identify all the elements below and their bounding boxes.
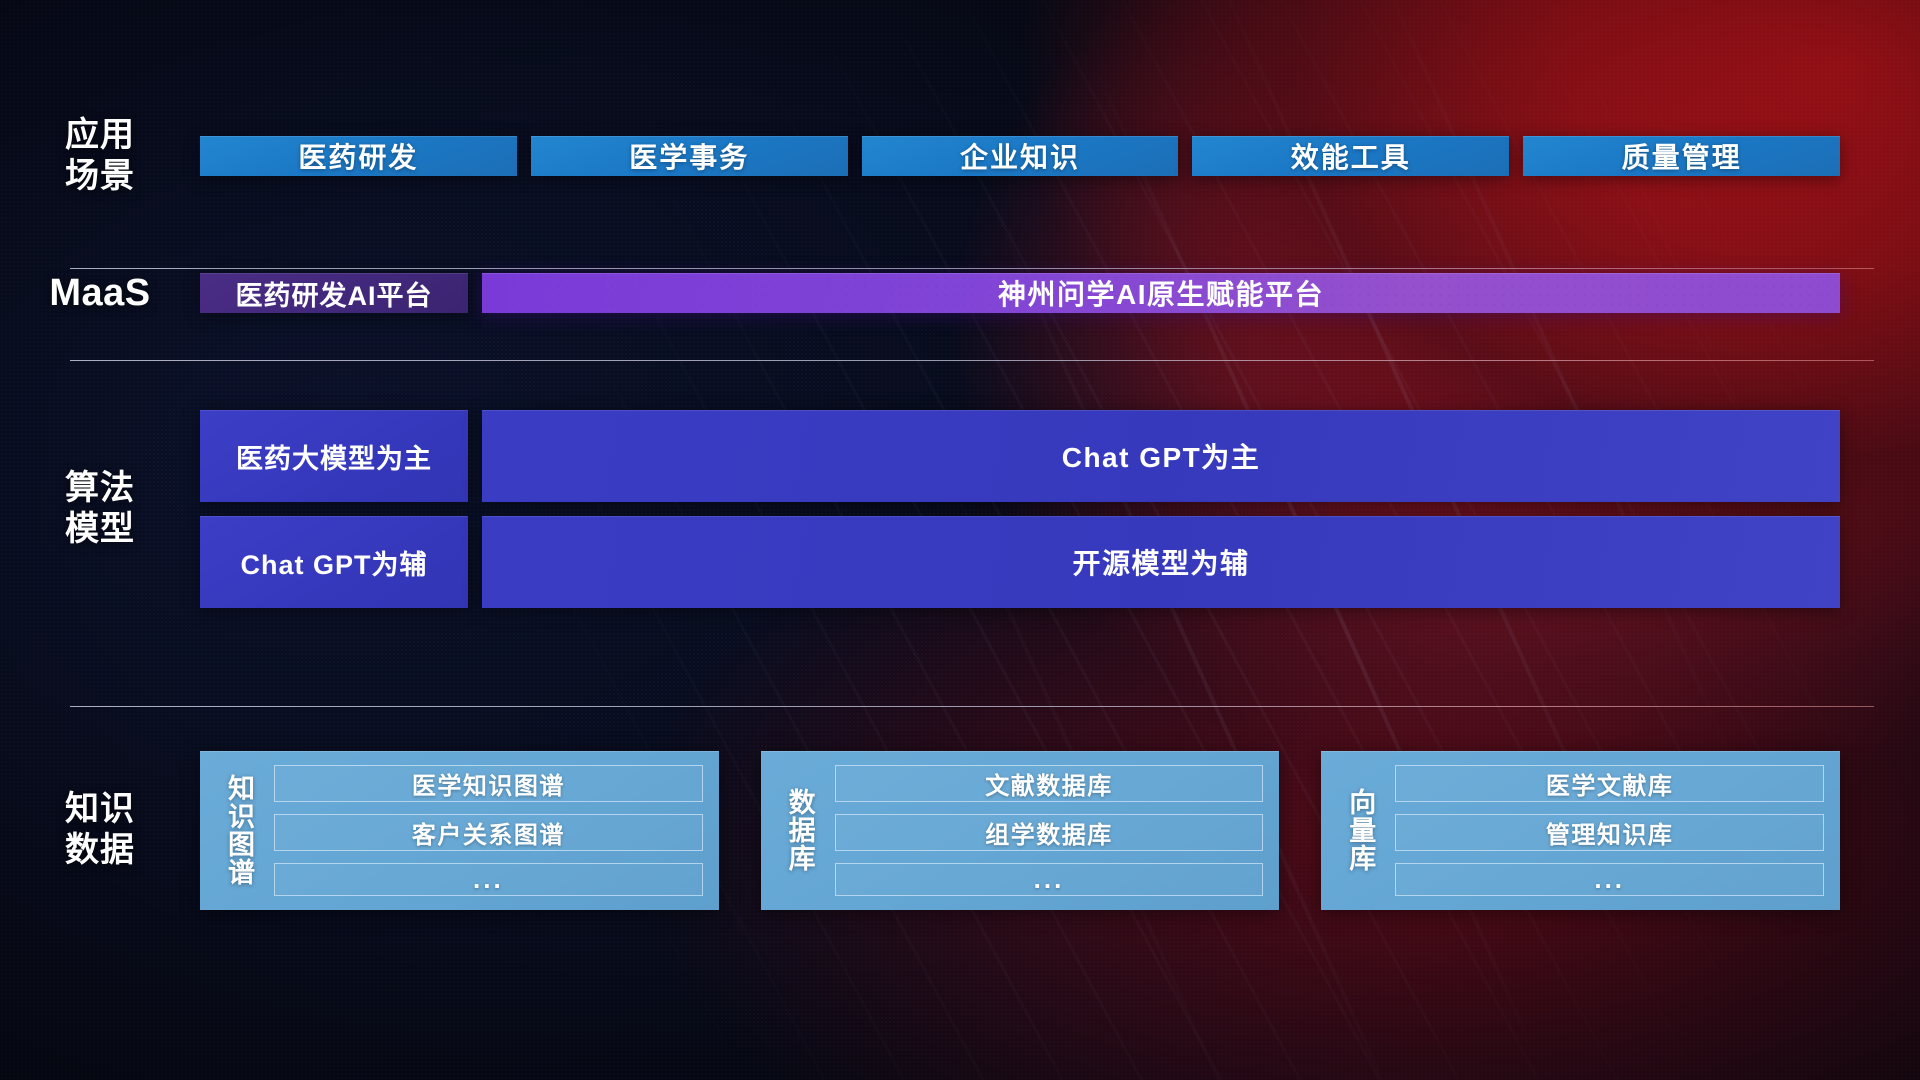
divider-maas-algorithm <box>70 360 1874 361</box>
knowledge-item-medical-literature-store[interactable]: 医学文献库 <box>1395 765 1824 802</box>
knowledge-item-label: 医学文献库 <box>1546 766 1674 801</box>
knowledge-item-medical-knowledge-graph[interactable]: 医学知识图谱 <box>274 765 703 802</box>
row-knowledge-data: 知识 数据 知识图谱 医学知识图谱 客户关系图谱 ... <box>0 700 1920 960</box>
knowledge-panel-database[interactable]: 数据库 文献数据库 组学数据库 ... <box>761 751 1280 910</box>
algo-box-chatgpt-secondary[interactable]: Chat GPT为辅 <box>200 516 468 608</box>
algo-box-label: 医药大模型为主 <box>236 437 432 476</box>
app-box-efficiency-tools[interactable]: 效能工具 <box>1192 136 1509 176</box>
knowledge-item-label: 组学数据库 <box>985 815 1113 850</box>
app-box-label: 质量管理 <box>1622 136 1742 176</box>
maas-box-label: 医药研发AI平台 <box>236 274 433 313</box>
app-box-label: 效能工具 <box>1291 136 1411 176</box>
knowledge-item-customer-relation-graph[interactable]: 客户关系图谱 <box>274 814 703 851</box>
algo-box-label: Chat GPT为主 <box>1062 436 1261 476</box>
app-box-enterprise-knowledge[interactable]: 企业知识 <box>862 136 1179 176</box>
maas-box-shenzhou-wenxue-platform[interactable]: 神州问学AI原生赋能平台 <box>482 273 1840 313</box>
algo-box-label: 开源模型为辅 <box>1072 542 1249 582</box>
row-application-scenarios: 应用 场景 医药研发 医学事务 企业知识 效能工具 质量管理 <box>0 96 1920 216</box>
knowledge-item-list: 文献数据库 组学数据库 ... <box>827 765 1264 896</box>
row-label-algorithm-model: 算法 模型 <box>0 468 200 551</box>
knowledge-panel-knowledge-graph[interactable]: 知识图谱 医学知识图谱 客户关系图谱 ... <box>200 751 719 910</box>
knowledge-panel-title: 向量库 <box>1331 765 1387 896</box>
row-label-knowledge-data: 知识 数据 <box>0 789 200 872</box>
maas-box-label: 神州问学AI原生赋能平台 <box>998 273 1324 313</box>
algorithm-line-secondary: Chat GPT为辅 开源模型为辅 <box>200 516 1840 608</box>
app-box-label: 医学事务 <box>629 136 749 176</box>
knowledge-panel-vector-store[interactable]: 向量库 医学文献库 管理知识库 ... <box>1321 751 1840 910</box>
knowledge-item-label: 文献数据库 <box>985 766 1113 801</box>
app-box-label: 医药研发 <box>298 136 418 176</box>
knowledge-item-label: ... <box>1594 864 1625 895</box>
maas-box-pharma-ai-platform[interactable]: 医药研发AI平台 <box>200 273 468 313</box>
row-algorithm-model: 算法 模型 医药大模型为主 Chat GPT为主 Chat GPT为辅 <box>0 376 1920 642</box>
algorithm-box-list: 医药大模型为主 Chat GPT为主 Chat GPT为辅 开源模型为辅 <box>200 410 1920 608</box>
algo-box-label: Chat GPT为辅 <box>240 543 427 582</box>
knowledge-item-more[interactable]: ... <box>835 863 1264 896</box>
knowledge-panel-list: 知识图谱 医学知识图谱 客户关系图谱 ... 数据库 <box>200 751 1920 910</box>
row-label-application-scenarios: 应用 场景 <box>0 115 200 198</box>
algo-box-pharma-llm-primary[interactable]: 医药大模型为主 <box>200 410 468 502</box>
knowledge-item-omics-database[interactable]: 组学数据库 <box>835 814 1264 851</box>
knowledge-item-label: 管理知识库 <box>1546 815 1674 850</box>
algo-box-chatgpt-primary[interactable]: Chat GPT为主 <box>482 410 1840 502</box>
maas-box-list: 医药研发AI平台 神州问学AI原生赋能平台 <box>200 273 1920 313</box>
knowledge-item-label: ... <box>473 864 504 895</box>
knowledge-item-label: 客户关系图谱 <box>412 815 565 850</box>
knowledge-item-literature-database[interactable]: 文献数据库 <box>835 765 1264 802</box>
application-box-list: 医药研发 医学事务 企业知识 效能工具 质量管理 <box>200 136 1920 176</box>
knowledge-item-management-knowledge-store[interactable]: 管理知识库 <box>1395 814 1824 851</box>
row-label-maas: MaaS <box>0 270 200 316</box>
app-box-medical-affairs[interactable]: 医学事务 <box>531 136 848 176</box>
app-box-pharma-rnd[interactable]: 医药研发 <box>200 136 517 176</box>
row-maas: MaaS 医药研发AI平台 神州问学AI原生赋能平台 <box>0 238 1920 348</box>
knowledge-item-label: 医学知识图谱 <box>412 766 565 801</box>
knowledge-panel-title: 知识图谱 <box>210 765 266 896</box>
knowledge-item-list: 医学文献库 管理知识库 ... <box>1387 765 1824 896</box>
knowledge-item-more[interactable]: ... <box>1395 863 1824 896</box>
app-box-quality-management[interactable]: 质量管理 <box>1523 136 1840 176</box>
algorithm-line-primary: 医药大模型为主 Chat GPT为主 <box>200 410 1840 502</box>
knowledge-item-more[interactable]: ... <box>274 863 703 896</box>
knowledge-panel-title: 数据库 <box>771 765 827 896</box>
algo-box-opensource-secondary[interactable]: 开源模型为辅 <box>482 516 1840 608</box>
knowledge-item-label: ... <box>1034 864 1065 895</box>
knowledge-item-list: 医学知识图谱 客户关系图谱 ... <box>266 765 703 896</box>
app-box-label: 企业知识 <box>960 136 1080 176</box>
architecture-diagram: 应用 场景 医药研发 医学事务 企业知识 效能工具 质量管理 <box>0 0 1920 1080</box>
